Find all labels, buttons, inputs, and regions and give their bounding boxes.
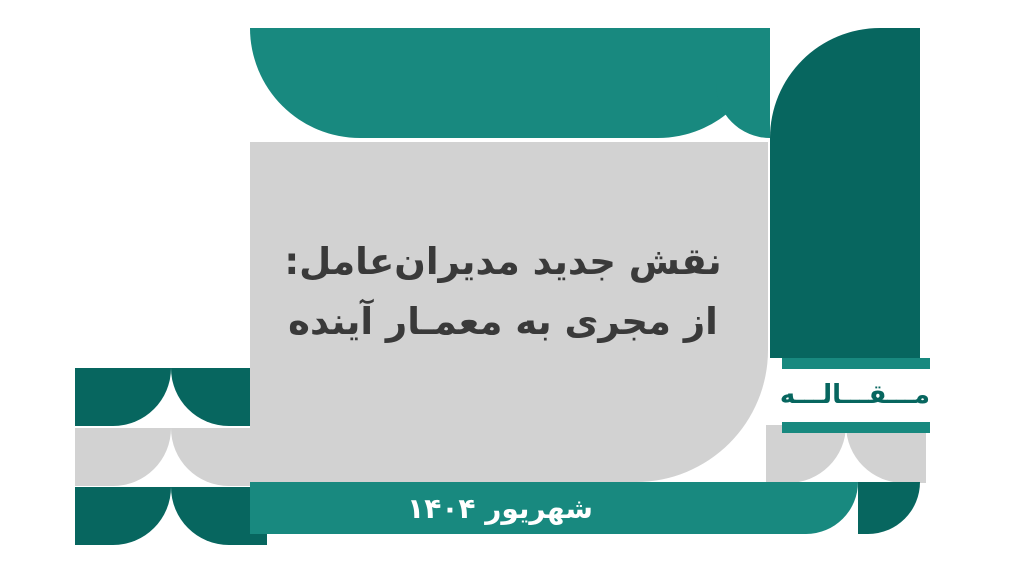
- category-label-block: مـــقـــالـــه: [782, 358, 930, 433]
- leaf-petal: [766, 425, 846, 483]
- publication-date: شهریور ۱۴۰۴: [250, 482, 750, 534]
- category-rule-top: [782, 358, 930, 369]
- right-dark-teal-column: [770, 28, 920, 358]
- right-leaf-row-1: [766, 425, 926, 483]
- top-right-teal-petal: [716, 28, 770, 138]
- leaf-petal: [75, 487, 171, 545]
- left-leaf-row-3: [75, 487, 267, 545]
- leaf-petal: [75, 368, 171, 426]
- left-leaf-row-2: [75, 428, 267, 486]
- leaf-petal: [846, 425, 926, 483]
- category-label: مـــقـــالـــه: [782, 369, 930, 422]
- title-line-1: نقش جدید مدیران‌عامل:: [258, 232, 748, 292]
- left-leaf-row-1: [75, 368, 267, 426]
- bottom-dark-teal-block: [858, 482, 920, 534]
- category-rule-bottom: [782, 422, 930, 433]
- page-title: نقش جدید مدیران‌عامل: از مجری به معمـار …: [258, 232, 748, 352]
- leaf-petal: [75, 428, 171, 486]
- title-line-2: از مجری به معمـار آینده: [258, 292, 748, 352]
- slide-canvas: نقش جدید مدیران‌عامل: از مجری به معمـار …: [0, 0, 1024, 576]
- top-teal-banner: [250, 28, 768, 138]
